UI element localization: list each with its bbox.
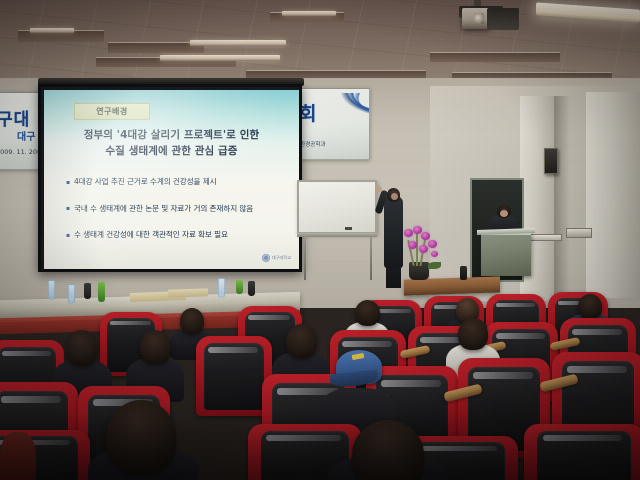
orchid-bloom [421,232,430,240]
lecture-hall-photo: 구대 대구 2009. 11. 20(금) 발표회 발표회 대구대학교 환경공학… [0,0,640,480]
column-shadow [554,96,570,296]
dark-bottle [84,283,91,299]
seat-highlight [543,435,622,441]
dark-bottle [460,266,467,280]
seat-highlight [266,435,341,441]
podium [481,232,531,276]
orchid-bloom [419,245,428,253]
ceiling-vent [430,52,560,62]
slide-bullet-item: 수 생태계 건강성에 대한 객관적인 자료 확보 필요 [66,229,286,241]
seat-highlight [208,347,258,353]
slide-bullet-item: 4대강 사업 추진 근거로 수계의 건강성을 제시 [66,176,286,188]
presenter-body [384,196,403,268]
seat-highlight [342,341,392,347]
slide-section-badge: 연구배경 [74,103,150,120]
slide-title-line-2: 수질 생태계에 관한 관심 급증 [52,143,291,159]
whiteboard-leg [370,236,372,280]
slide-section-badge-label: 연구배경 [96,106,127,117]
slide-footer-logo-label: 대구대학교 [272,255,291,261]
seat-highlight [248,315,290,320]
ceiling-light-fixture [282,11,336,16]
audience-shoulders [0,432,36,480]
seat-highlight [496,333,545,339]
seat-highlight [1,396,62,403]
orchid-bloom [431,251,438,257]
audience-head [578,294,602,319]
audience-head [180,308,204,334]
water-bottle [68,284,75,304]
whiteboard-marker-icon [345,227,352,230]
audience-head [106,400,176,474]
whiteboard [297,180,377,234]
slide-footer-logo: 대구대학교 [262,254,291,262]
seat-highlight [567,366,628,373]
seat-highlight [496,303,536,307]
banner-left-headline: 구대 [0,105,30,130]
dark-bottle [248,281,255,296]
ceiling-light-fixture [160,55,280,61]
wall-column [586,92,640,298]
whiteboard-leg [304,236,306,280]
slide-bullet-list: 4대강 사업 추진 근거로 수계의 건강성을 제시 국내 수 생태계에 관한 논… [66,176,286,256]
wall-speaker-icon [544,148,558,174]
presentation-slide: 연구배경 정부의 '4대강 살리기 프로젝트'로 인한 수질 생태계에 관한 관… [44,90,299,269]
seat-highlight [421,446,498,451]
auditorium-seat[interactable] [196,336,272,416]
seat-highlight [381,380,442,387]
seat-highlight [572,329,622,335]
whiteboard-tray [297,233,377,237]
ceiling-light-fixture [190,40,286,46]
podium-person-face [500,210,508,217]
orchid-bloom [408,241,417,249]
water-bottle [218,278,225,298]
orchid-leaf [428,262,441,269]
university-emblem-icon [262,254,270,262]
audience-head [286,324,317,358]
projector-lens-icon [474,13,484,24]
audience-head [140,330,171,364]
seat-highlight [110,321,151,325]
projector-housing [487,8,519,30]
audience-head [458,318,488,350]
orchid-bloom [413,226,422,234]
seat-backrest [204,343,263,410]
banner-left-subhead: 대구 [17,128,35,143]
ceiling-light-fixture [30,28,74,33]
projection-screen: 연구배경 정부의 '4대강 살리기 프로젝트'로 인한 수질 생태계에 관한 관… [38,84,302,272]
presenter-hand [376,186,382,192]
green-bottle [236,280,243,294]
green-bottle [98,282,105,302]
wall-vent-box [566,228,592,238]
audience-head [66,330,98,366]
wall-ledge [528,234,562,241]
presenter-face [391,193,398,200]
water-bottle [48,280,55,300]
orchid-stem [416,232,418,266]
seat-highlight [473,372,534,379]
slide-bullet-item: 국내 수 생태계에 관한 논문 및 자료가 거의 존재하지 않음 [66,203,286,215]
orchid-bloom [404,229,413,237]
orchid-bloom [428,240,437,248]
auditorium-seat[interactable] [524,424,640,480]
slide-title: 정부의 '4대강 살리기 프로젝트'로 인한 수질 생태계에 관한 관심 급증 [52,127,291,159]
slide-title-line-1: 정부의 '4대강 살리기 프로젝트'로 인한 [52,127,291,143]
seat-highlight [2,351,51,356]
audience-head [352,420,424,480]
audience-head [355,300,380,326]
paper-stack [168,288,208,297]
